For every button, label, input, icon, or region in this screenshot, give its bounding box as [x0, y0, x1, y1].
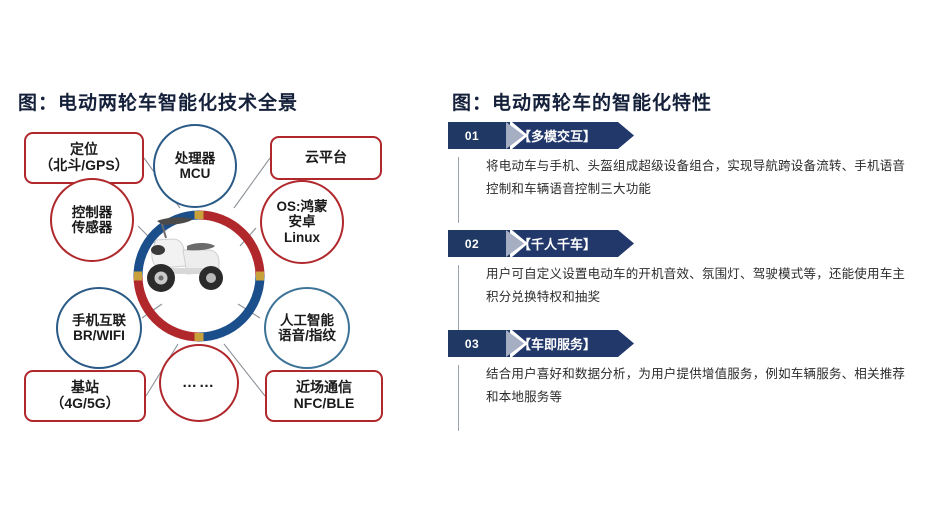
smart-features-list: 01 【多模交互】 将电动车与手机、头盔组成超级设备组合，实现导航跨设备流转、手… [448, 122, 928, 422]
node-operating-system[interactable]: OS:鸿蒙 安卓 Linux [260, 180, 344, 264]
feature-arrow-header[interactable]: 03 【车即服务】 [448, 330, 636, 357]
node-line: 手机互联 [72, 313, 126, 328]
feature-label: 【车即服务】 [518, 330, 596, 357]
node-line: （4G/5G） [50, 396, 119, 412]
node-cloud-platform[interactable]: 云平台 [270, 136, 382, 180]
feature-number: 02 [448, 230, 496, 257]
feature-label: 【千人千车】 [518, 230, 596, 257]
feature-number: 03 [448, 330, 496, 357]
vertical-rule [458, 157, 459, 223]
node-line: 人工智能 [280, 313, 334, 328]
node-line: （北斗/GPS） [39, 158, 128, 174]
node-line: MCU [180, 166, 211, 181]
node-line: 处理器 [175, 151, 216, 166]
node-line: OS:鸿蒙 [276, 199, 327, 214]
slide-canvas: 图：电动两轮车智能化技术全景 [0, 0, 942, 529]
node-line: 近场通信 [296, 380, 352, 396]
vertical-rule [458, 265, 459, 331]
central-hub [131, 208, 267, 344]
node-line: 安卓 [289, 214, 316, 229]
feature-body-wrap: 将电动车与手机、头盔组成超级设备组合，实现导航跨设备流转、手机语音控制和车辆语音… [448, 155, 928, 201]
feature-number: 01 [448, 122, 496, 149]
feature-body-wrap: 结合用户喜好和数据分析，为用户提供增值服务，例如车辆服务、相关推荐和本地服务等 [448, 363, 928, 409]
node-line: 定位 [70, 142, 98, 158]
node-nfc-ble[interactable]: 近场通信 NFC/BLE [265, 370, 383, 422]
vertical-rule [458, 365, 459, 431]
node-processor-mcu[interactable]: 处理器 MCU [153, 124, 237, 208]
node-line: 传感器 [72, 220, 113, 235]
technology-landscape-diagram: 定位 （北斗/GPS） 云平台 基站 （4G/5G） 近场通信 NFC/BLE … [12, 122, 402, 427]
node-line: Linux [284, 230, 320, 245]
node-line: BR/WIFI [73, 328, 125, 343]
right-panel-title: 图：电动两轮车的智能化特性 [452, 88, 712, 115]
feature-item: 01 【多模交互】 将电动车与手机、头盔组成超级设备组合，实现导航跨设备流转、手… [448, 122, 928, 201]
feature-body: 将电动车与手机、头盔组成超级设备组合，实现导航跨设备流转、手机语音控制和车辆语音… [486, 155, 916, 201]
left-panel-title: 图：电动两轮车智能化技术全景 [18, 88, 298, 115]
node-ellipsis[interactable]: …… [159, 344, 239, 422]
node-line: 云平台 [305, 150, 347, 166]
node-line: 语音/指纹 [278, 328, 336, 343]
electric-scooter-icon [131, 208, 231, 304]
node-phone-connectivity[interactable]: 手机互联 BR/WIFI [56, 287, 142, 369]
feature-arrow-header[interactable]: 01 【多模交互】 [448, 122, 636, 149]
node-line: 基站 [71, 380, 99, 396]
node-line: …… [182, 375, 216, 392]
feature-arrow-header[interactable]: 02 【千人千车】 [448, 230, 636, 257]
node-base-station[interactable]: 基站 （4G/5G） [24, 370, 146, 422]
feature-body: 用户可自定义设置电动车的开机音效、氛围灯、驾驶模式等，还能使用车主积分兑换特权和… [486, 263, 916, 309]
feature-item: 03 【车即服务】 结合用户喜好和数据分析，为用户提供增值服务，例如车辆服务、相… [448, 330, 928, 409]
node-controller-sensor[interactable]: 控制器 传感器 [50, 178, 134, 262]
node-line: NFC/BLE [294, 396, 355, 412]
feature-label: 【多模交互】 [518, 122, 596, 149]
feature-body: 结合用户喜好和数据分析，为用户提供增值服务，例如车辆服务、相关推荐和本地服务等 [486, 363, 916, 409]
node-positioning[interactable]: 定位 （北斗/GPS） [24, 132, 144, 184]
feature-item: 02 【千人千车】 用户可自定义设置电动车的开机音效、氛围灯、驾驶模式等，还能使… [448, 230, 928, 309]
node-line: 控制器 [72, 205, 113, 220]
node-artificial-intelligence[interactable]: 人工智能 语音/指纹 [264, 287, 350, 369]
feature-body-wrap: 用户可自定义设置电动车的开机音效、氛围灯、驾驶模式等，还能使用车主积分兑换特权和… [448, 263, 928, 309]
